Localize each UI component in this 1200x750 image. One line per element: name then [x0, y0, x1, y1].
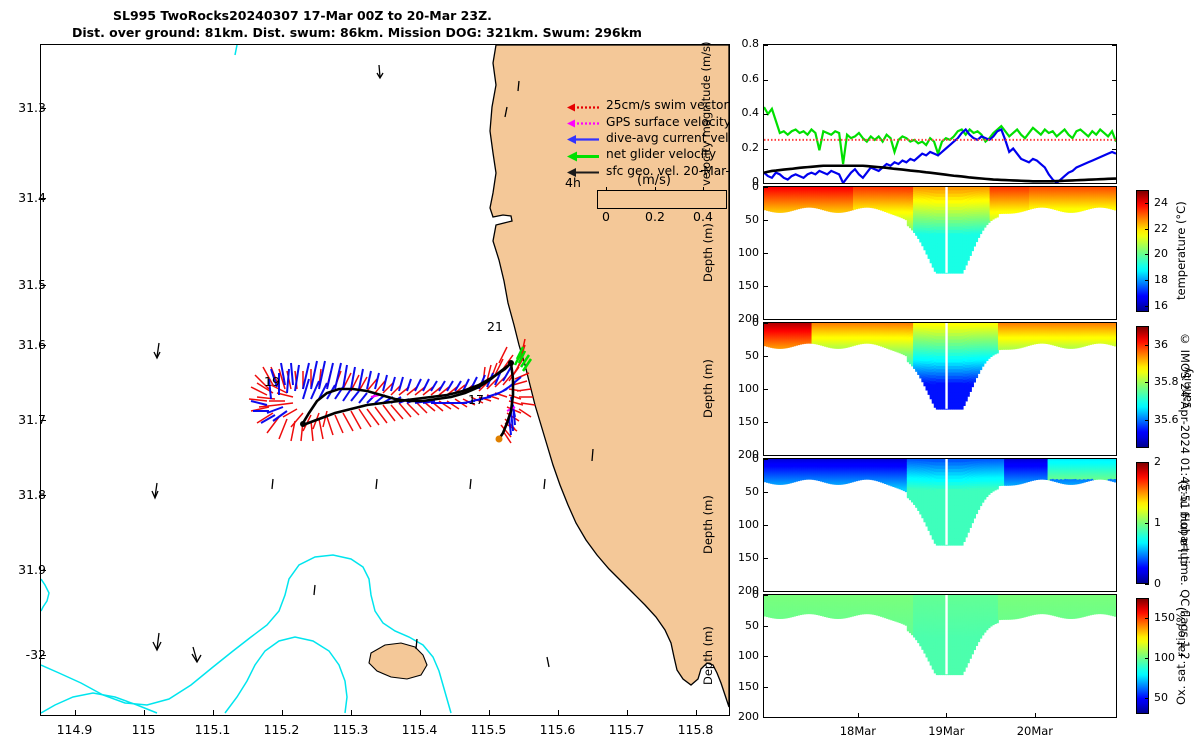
- section-cell: [975, 239, 978, 242]
- map-x-tick-label: 115.2: [252, 722, 312, 737]
- velocity-y-tick-label: 0.6: [727, 72, 759, 85]
- depth-tick-mark: [763, 187, 768, 188]
- velocity-y-tick-label: 0.8: [727, 37, 759, 50]
- temperature-section-cbar-tick-mark: [1145, 280, 1149, 281]
- dive-avg-current-arrow-icon: [565, 131, 601, 144]
- map-x-tick-mark: [213, 710, 214, 716]
- map-x-tick-mark: [489, 710, 490, 716]
- map-y-tick-mark: [40, 198, 46, 199]
- temperature-section-cbar-tick-mark: [1145, 229, 1149, 230]
- map-x-tick-mark: [627, 710, 628, 716]
- map-x-tick-mark: [420, 710, 421, 716]
- section-cell: [969, 253, 972, 256]
- velocity-y-tick-mark-right: [1112, 183, 1117, 184]
- depth-tick-mark: [763, 220, 768, 221]
- map-x-tick-mark: [696, 710, 697, 716]
- section-cell: [963, 266, 966, 270]
- section-cell: [979, 232, 982, 235]
- velocity-y-tick-mark-right: [1112, 45, 1117, 46]
- velocity-cbar-tick-1: 0.2: [645, 209, 665, 224]
- temperature-section-cbar-tick-mark: [1145, 254, 1149, 255]
- section-cell: [981, 228, 984, 230]
- map-y-tick-mark: [40, 345, 46, 346]
- velocity-y-tick-mark-right: [1112, 149, 1117, 150]
- track-marker-17: [496, 436, 503, 443]
- section-cell: [967, 257, 970, 261]
- section-cell: [986, 223, 989, 225]
- track-day-label-17: 17: [468, 392, 484, 407]
- depth-tick-label: 0: [729, 180, 759, 193]
- isobath-1000m: [41, 693, 157, 713]
- temperature-section-panel[interactable]: [763, 186, 1117, 320]
- section-cell: [983, 225, 986, 227]
- map-x-tick-label: 115.6: [528, 722, 588, 737]
- map-x-tick-label: 115.4: [390, 722, 450, 737]
- map-x-tick-mark: [144, 710, 145, 716]
- section-cell: [971, 248, 974, 251]
- isobath-200m: [41, 555, 451, 713]
- section-cell: [965, 262, 968, 266]
- section-cell: [973, 243, 976, 246]
- track-marker-21: [508, 360, 514, 366]
- map-x-tick-label: 115.3: [321, 722, 381, 737]
- map-y-tick-mark: [40, 108, 46, 109]
- temperature-section-cbar-tick-label: 24: [1154, 196, 1168, 209]
- legend-units-label: (m/s): [637, 173, 671, 188]
- depth-tick-label: 100: [729, 246, 759, 259]
- velocity-y-tick-mark-right: [1112, 114, 1117, 115]
- map-x-tick-label: 115.5: [459, 722, 519, 737]
- depth-tick-mark: [763, 253, 768, 254]
- gps-velocity-arrow-icon: [565, 115, 601, 128]
- velocity-y-tick-mark: [763, 183, 768, 184]
- depth-tick-mark: [763, 319, 768, 320]
- legend-scale-label: 4h: [565, 175, 581, 190]
- map-x-tick-label: 115.8: [666, 722, 726, 737]
- velocity-y-tick-mark: [763, 149, 768, 150]
- salinity-section-panel[interactable]: [763, 322, 1117, 456]
- temperature-section-colorbar-title: temperature (°C): [1174, 190, 1188, 312]
- temperature-section-plot: [764, 187, 1116, 319]
- section-cell: [996, 216, 999, 218]
- island-polygon: [369, 643, 427, 679]
- page-title: SL995 TwoRocks20240307 17-Mar 00Z to 20-…: [113, 8, 492, 23]
- map-y-tick-mark: [40, 495, 46, 496]
- velocity-y-axis-label: velocity magnitude (m/s): [699, 46, 713, 182]
- map-y-tick-mark: [40, 655, 46, 656]
- temperature-section-cbar-tick-label: 16: [1154, 299, 1168, 312]
- map-x-tick-mark: [282, 710, 283, 716]
- velocity-y-tick-mark: [763, 45, 768, 46]
- map-x-tick-label: 115: [114, 722, 174, 737]
- map-y-tick-mark: [40, 285, 46, 286]
- map-x-tick-mark: [75, 710, 76, 716]
- velocity-cbar-tick-0: 0: [602, 209, 610, 224]
- track-day-label-19: 19: [264, 374, 280, 389]
- map-x-tick-label: 115.7: [597, 722, 657, 737]
- track-marker-19: [300, 421, 306, 427]
- section-cell: [977, 235, 980, 238]
- net-glider-velocity-arrow-icon: [565, 148, 601, 161]
- temperature-section-cbar-tick-label: 18: [1154, 273, 1168, 286]
- depth-tick-label: 150: [729, 279, 759, 292]
- section-cell: [1114, 209, 1116, 211]
- series-net-glider-velocity: [764, 107, 1116, 164]
- velocity-y-tick-mark: [763, 80, 768, 81]
- map-x-tick-mark: [558, 710, 559, 716]
- profile-data-gap: [945, 187, 947, 273]
- velocity-y-tick-mark: [763, 114, 768, 115]
- swim-vector-arrow-icon: [565, 99, 601, 112]
- map-panel[interactable]: 25cm/s swim vector GPS surface velocity …: [40, 44, 730, 716]
- depth-tick-mark: [763, 286, 768, 287]
- section-cell: [961, 270, 964, 274]
- velocity-magnitude-plot: [764, 45, 1116, 183]
- temperature-section-cbar-tick-mark: [1145, 203, 1149, 204]
- temperature-section-colorbar: [1136, 190, 1149, 312]
- page-subtitle: Dist. over ground: 81km. Dist. swum: 86k…: [72, 25, 642, 40]
- depth-tick-label: 50: [729, 213, 759, 226]
- map-x-tick-label: 114.9: [45, 722, 105, 737]
- map-y-tick-mark: [40, 420, 46, 421]
- velocity-y-tick-label: 0.4: [727, 106, 759, 119]
- isobath-0m: [41, 579, 49, 611]
- velocity-magnitude-panel[interactable]: [763, 44, 1117, 184]
- map-y-tick-mark: [40, 570, 46, 571]
- map-x-tick-label: 115.1: [183, 722, 243, 737]
- velocity-y-tick-mark-right: [1112, 80, 1117, 81]
- depth-axis-label: Depth (m): [701, 188, 715, 318]
- isobath-1000m-b: [225, 637, 347, 713]
- isobath-upper: [235, 45, 237, 55]
- map-x-tick-mark: [351, 710, 352, 716]
- velocity-y-tick-label: 0.2: [727, 141, 759, 154]
- salinity-section-plot: [764, 323, 1116, 455]
- temperature-section-cbar-tick-label: 20: [1154, 247, 1168, 260]
- track-day-label-21: 21: [487, 319, 503, 334]
- temperature-section-cbar-tick-label: 22: [1154, 222, 1168, 235]
- temperature-section-cbar-tick-mark: [1145, 306, 1149, 307]
